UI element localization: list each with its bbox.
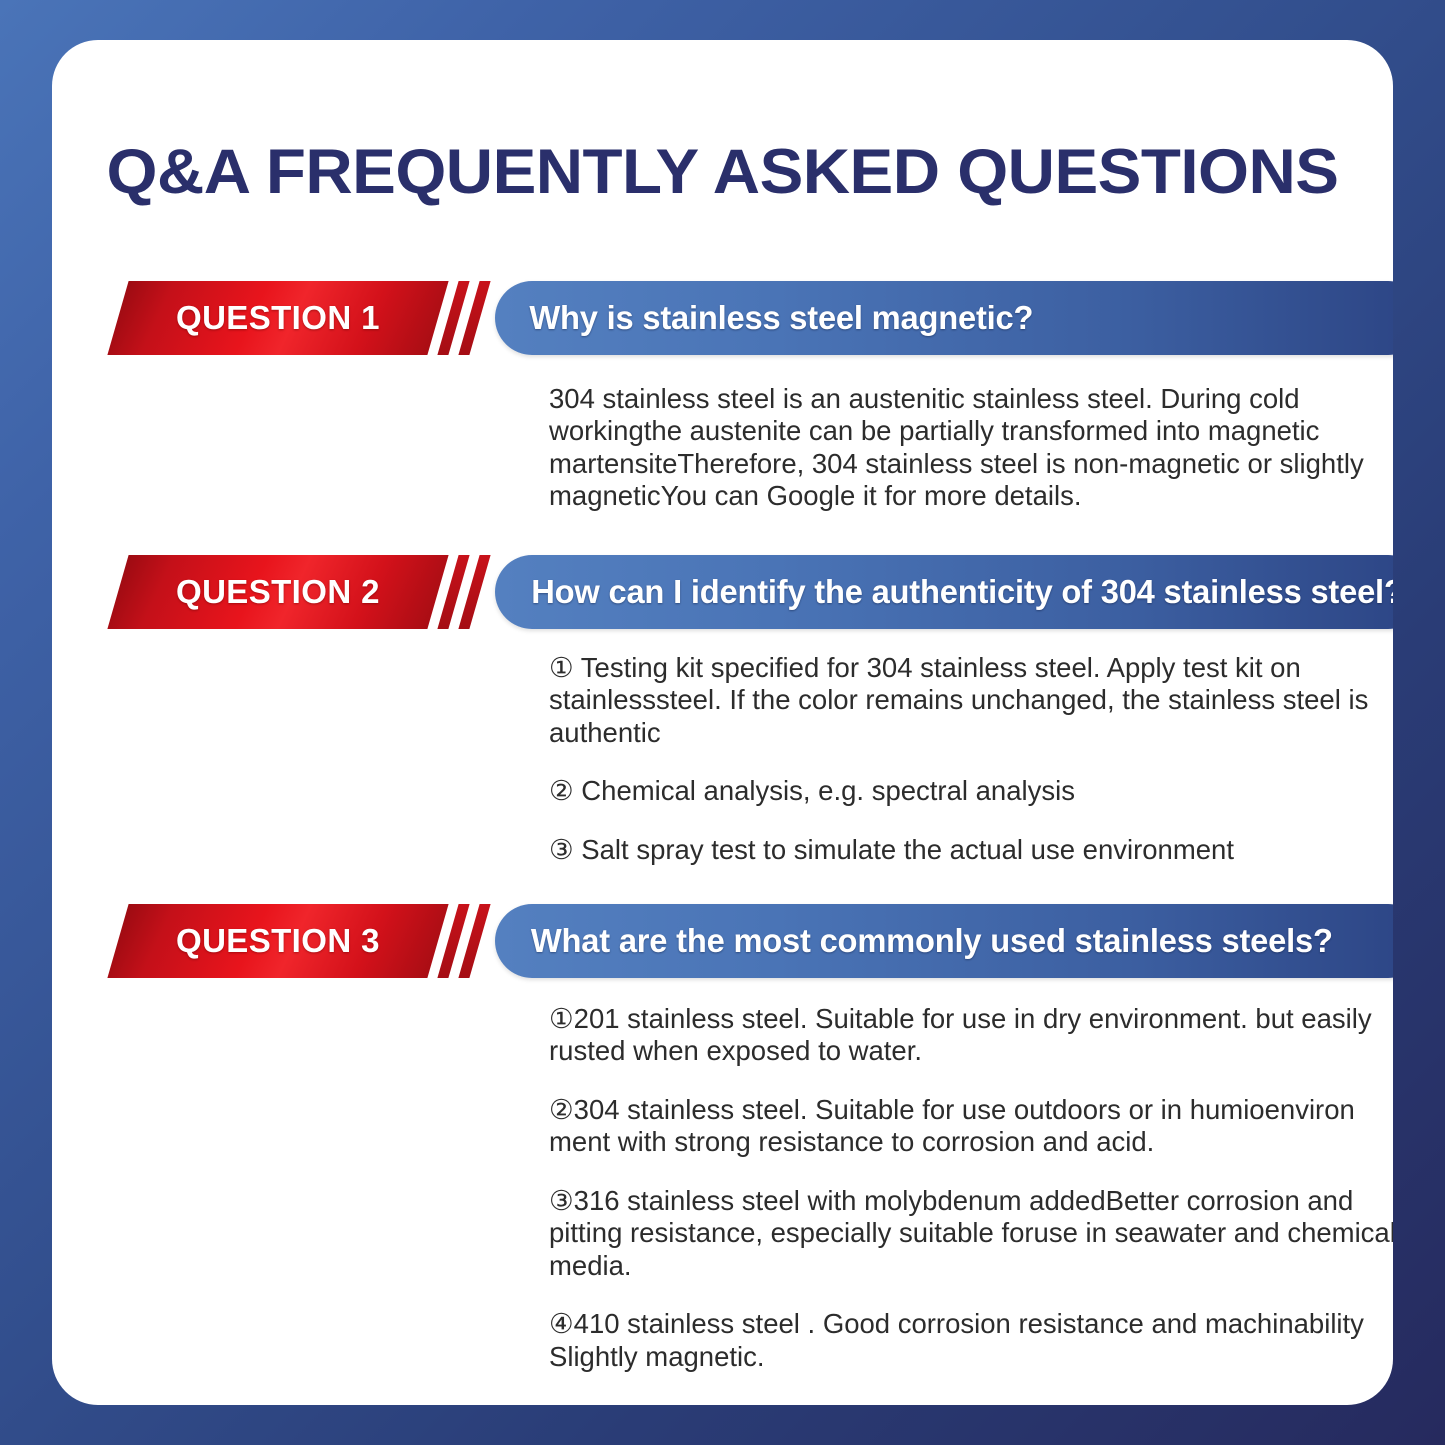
question-text-3: What are the most commonly used stainles…	[499, 922, 1333, 960]
question-tag-label-2: QUESTION 2	[176, 573, 380, 611]
faq-item-2: QUESTION 2 How can I identify the authen…	[52, 555, 1393, 629]
question-tag-label-3: QUESTION 3	[176, 922, 380, 960]
question-tag-label-1: QUESTION 1	[176, 299, 380, 337]
answer-body-1: 304 stainless steel is an austenitic sta…	[549, 383, 1393, 513]
page-title: Q&A FREQUENTLY ASKED QUESTIONS	[52, 136, 1393, 208]
answer-paragraph: ①201 stainless steel. Suitable for use i…	[549, 1003, 1393, 1068]
answer-paragraph: ④410 stainless steel . Good corrosion re…	[549, 1308, 1393, 1373]
answer-paragraph: ① Testing kit specified for 304 stainles…	[549, 652, 1393, 749]
answer-body-2: ① Testing kit specified for 304 stainles…	[549, 652, 1393, 866]
question-bar-2[interactable]: How can I identify the authenticity of 3…	[495, 555, 1393, 629]
answer-paragraph: ③316 stainless steel with molybdenum add…	[549, 1185, 1393, 1282]
answer-paragraph: ③ Salt spray test to simulate the actual…	[549, 834, 1393, 866]
question-tag-1: QUESTION 1	[107, 281, 448, 355]
answer-paragraph: 304 stainless steel is an austenitic sta…	[549, 383, 1393, 513]
faq-card: Q&A FREQUENTLY ASKED QUESTIONS QUESTION …	[52, 40, 1393, 1405]
question-bar-1[interactable]: Why is stainless steel magnetic?	[495, 281, 1393, 355]
question-bar-3[interactable]: What are the most commonly used stainles…	[495, 904, 1393, 978]
answer-body-3: ①201 stainless steel. Suitable for use i…	[549, 1003, 1393, 1373]
question-text-2: How can I identify the authenticity of 3…	[500, 573, 1393, 611]
question-text-1: Why is stainless steel magnetic?	[498, 299, 1034, 337]
faq-item-1: QUESTION 1 Why is stainless steel magnet…	[52, 281, 1393, 355]
answer-paragraph: ②304 stainless steel. Suitable for use o…	[549, 1094, 1393, 1159]
faq-header-1: QUESTION 1 Why is stainless steel magnet…	[52, 281, 1393, 355]
question-tag-3: QUESTION 3	[107, 904, 448, 978]
answer-paragraph: ② Chemical analysis, e.g. spectral analy…	[549, 775, 1393, 807]
faq-header-2: QUESTION 2 How can I identify the authen…	[52, 555, 1393, 629]
question-tag-2: QUESTION 2	[107, 555, 448, 629]
faq-item-3: QUESTION 3 What are the most commonly us…	[52, 904, 1393, 978]
faq-header-3: QUESTION 3 What are the most commonly us…	[52, 904, 1393, 978]
